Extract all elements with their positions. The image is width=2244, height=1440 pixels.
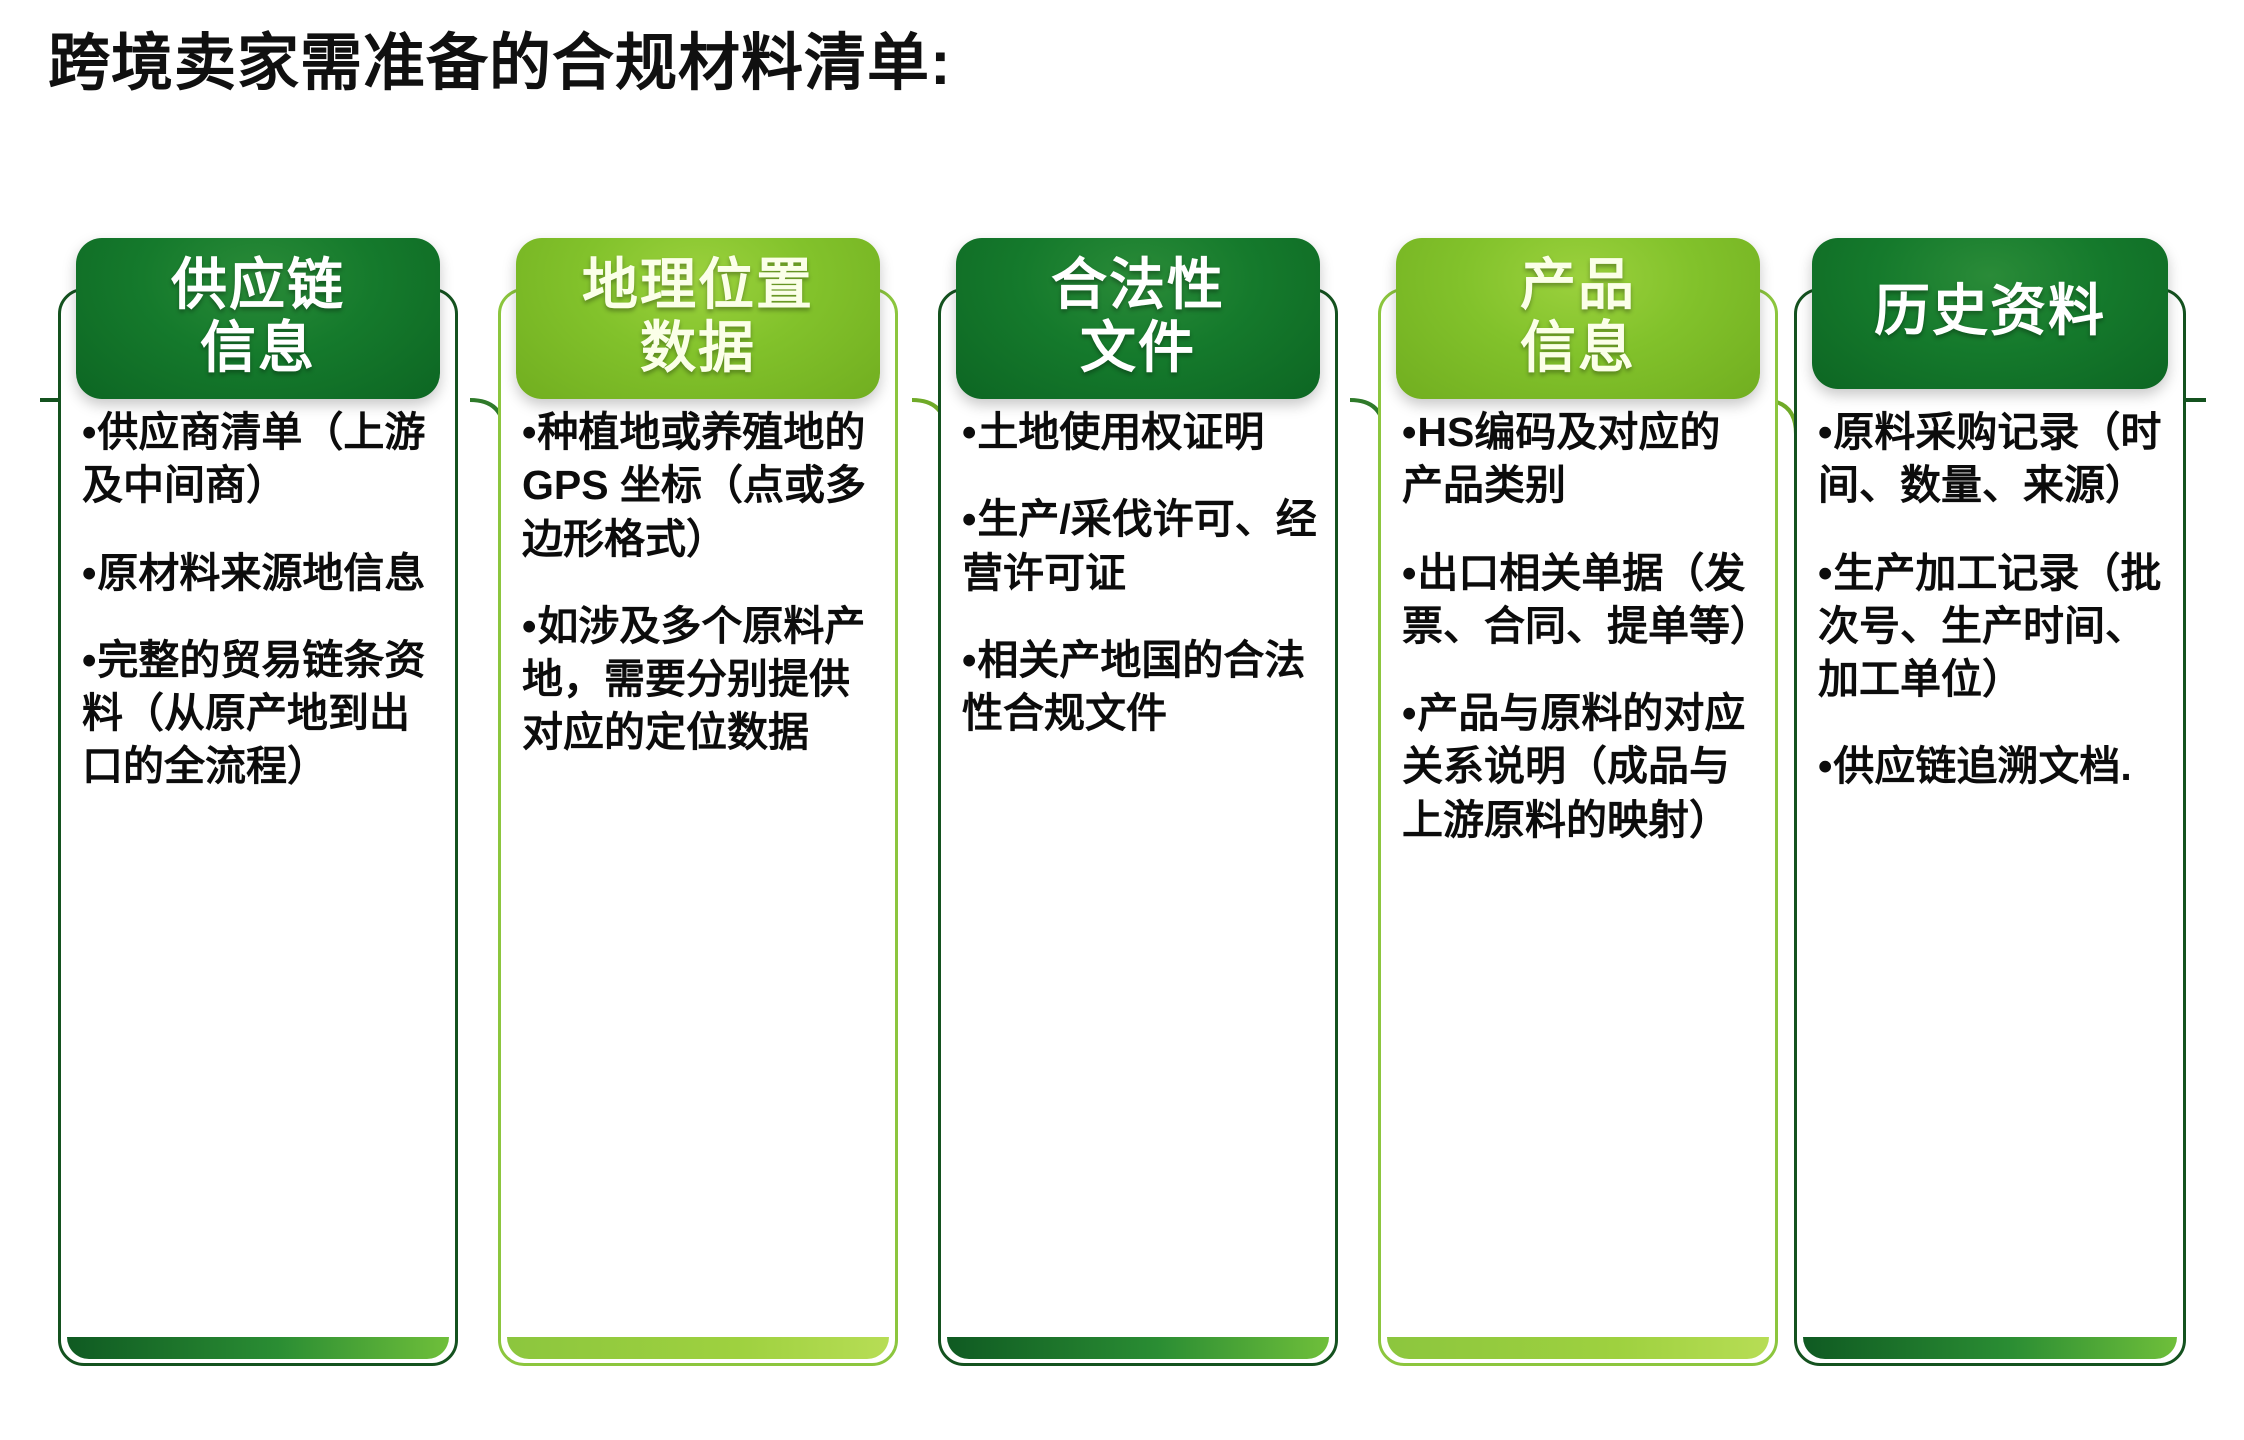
column-header-geo-location-data[interactable]: 地理位置 数据 xyxy=(516,238,880,399)
list-item: 供应链追溯文档. xyxy=(1818,740,2168,793)
header-line: 供应链 xyxy=(86,254,430,317)
list-item: 相关产地国的合法性合规文件 xyxy=(962,634,1320,741)
column-legality-documents[interactable]: 合法性 文件 土地使用权证明 生产/采伐许可、经营许可证 相关产地国的合法性合规… xyxy=(938,288,1338,1366)
list-item: 产品与原料的对应关系说明（成品与上游原料的映射） xyxy=(1402,687,1760,847)
column-body: 供应商清单（上游及中间商） 原材料来源地信息 完整的贸易链条资料（从原产地到出口… xyxy=(82,406,440,1332)
header-line: 地理位置 xyxy=(526,254,870,317)
header-line: 信息 xyxy=(1406,317,1750,380)
header-line: 合法性 xyxy=(966,254,1310,317)
card-foot-bar xyxy=(947,1337,1329,1359)
column-header-historical-records[interactable]: 历史资料 xyxy=(1812,238,2168,389)
column-geo-location-data[interactable]: 地理位置 数据 种植地或养殖地的 GPS 坐标（点或多边形格式） 如涉及多个原料… xyxy=(498,288,898,1366)
card-foot-bar xyxy=(67,1337,449,1359)
header-line: 历史资料 xyxy=(1822,280,2158,343)
card-foot-bar xyxy=(1387,1337,1769,1359)
header-line: 文件 xyxy=(966,317,1310,380)
list-item: 原材料来源地信息 xyxy=(82,547,440,600)
card-foot-bar xyxy=(1803,1337,2177,1359)
page-title: 跨境卖家需准备的合规材料清单: xyxy=(48,28,952,99)
column-header-legality-documents[interactable]: 合法性 文件 xyxy=(956,238,1320,399)
list-item: 原料采购记录（时间、数量、来源） xyxy=(1818,406,2168,513)
column-header-product-info[interactable]: 产品 信息 xyxy=(1396,238,1760,399)
card-foot-bar xyxy=(507,1337,889,1359)
list-item: 生产/采伐许可、经营许可证 xyxy=(962,493,1320,600)
column-supply-chain-info[interactable]: 供应链 信息 供应商清单（上游及中间商） 原材料来源地信息 完整的贸易链条资料（… xyxy=(58,288,458,1366)
list-item: 土地使用权证明 xyxy=(962,406,1320,459)
list-item: HS编码及对应的产品类别 xyxy=(1402,406,1760,513)
column-body: 种植地或养殖地的 GPS 坐标（点或多边形格式） 如涉及多个原料产地，需要分别提… xyxy=(522,406,880,1332)
column-body: HS编码及对应的产品类别 出口相关单据（发票、合同、提单等） 产品与原料的对应关… xyxy=(1402,406,1760,1332)
column-body: 土地使用权证明 生产/采伐许可、经营许可证 相关产地国的合法性合规文件 xyxy=(962,406,1320,1332)
list-item: 种植地或养殖地的 GPS 坐标（点或多边形格式） xyxy=(522,406,880,566)
list-item: 供应商清单（上游及中间商） xyxy=(82,406,440,513)
column-header-supply-chain-info[interactable]: 供应链 信息 xyxy=(76,238,440,399)
list-item: 如涉及多个原料产地，需要分别提供对应的定位数据 xyxy=(522,600,880,760)
header-line: 数据 xyxy=(526,317,870,380)
header-line: 产品 xyxy=(1406,254,1750,317)
column-historical-records[interactable]: 历史资料 原料采购记录（时间、数量、来源） 生产加工记录（批次号、生产时间、加工… xyxy=(1794,288,2186,1366)
header-line: 信息 xyxy=(86,317,430,380)
column-product-info[interactable]: 产品 信息 HS编码及对应的产品类别 出口相关单据（发票、合同、提单等） 产品与… xyxy=(1378,288,1778,1366)
list-item: 生产加工记录（批次号、生产时间、加工单位） xyxy=(1818,547,2168,707)
column-body: 原料采购记录（时间、数量、来源） 生产加工记录（批次号、生产时间、加工单位） 供… xyxy=(1818,406,2168,1332)
list-item: 出口相关单据（发票、合同、提单等） xyxy=(1402,547,1760,654)
list-item: 完整的贸易链条资料（从原产地到出口的全流程） xyxy=(82,634,440,794)
infographic-page: 跨境卖家需准备的合规材料清单: 供应链 信息 供应商清单（上游及中间商） 原材料… xyxy=(0,0,2244,1440)
columns-board: 供应链 信息 供应商清单（上游及中间商） 原材料来源地信息 完整的贸易链条资料（… xyxy=(58,288,2186,1368)
